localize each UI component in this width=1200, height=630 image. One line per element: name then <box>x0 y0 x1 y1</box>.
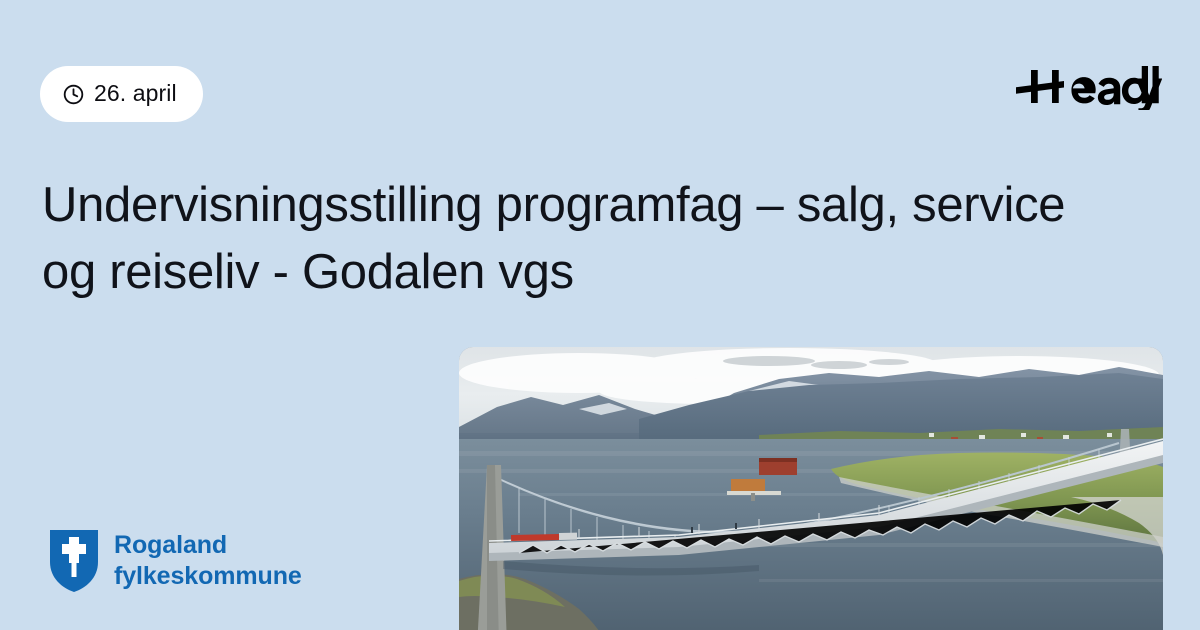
headly-wordmark-icon <box>1016 62 1162 110</box>
shield-cross-icon <box>48 528 100 594</box>
partner-logo: Rogaland fylkeskommune <box>48 528 302 594</box>
share-card: 26. april Headly Undervisni <box>0 0 1200 630</box>
partner-name: Rogaland fylkeskommune <box>114 530 302 592</box>
fjord-bridge-illustration <box>459 347 1163 630</box>
hero-image <box>459 347 1163 630</box>
headly-logo[interactable]: Headly <box>1016 62 1162 110</box>
partner-name-line1: Rogaland <box>114 530 302 561</box>
date-label: 26. april <box>94 82 177 106</box>
clock-icon <box>62 83 85 106</box>
page-title: Undervisningsstilling programfag – salg,… <box>42 172 1132 306</box>
partner-name-line2: fylkeskommune <box>114 561 302 592</box>
date-badge: 26. april <box>40 66 203 122</box>
